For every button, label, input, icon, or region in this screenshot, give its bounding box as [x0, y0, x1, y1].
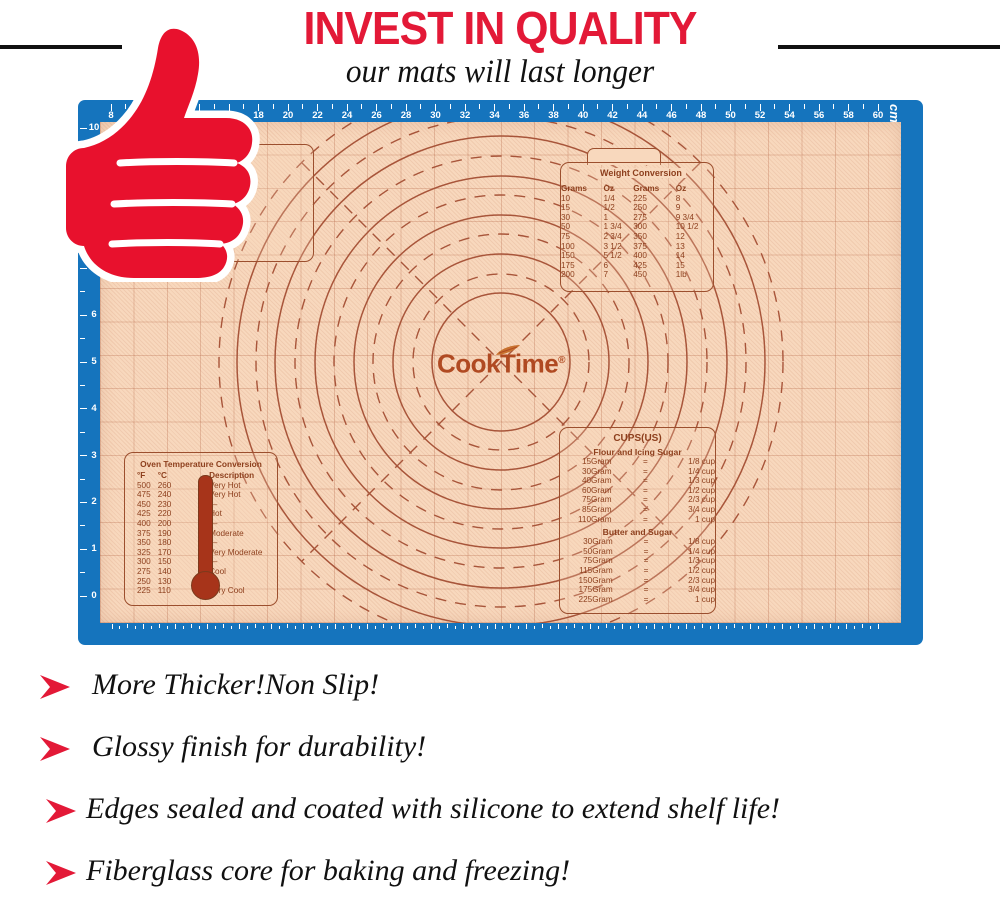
ruler-tick: [782, 624, 783, 629]
table-cell: 250: [125, 577, 158, 587]
table-cell: 85: [560, 505, 591, 515]
ruler-tick: [558, 624, 559, 629]
ruler-tick-label: 40: [572, 111, 594, 121]
ruler-tick: [670, 624, 671, 628]
table-cell: 7: [603, 270, 633, 280]
ruler-tick: [745, 104, 746, 109]
table-cell: Gram: [591, 457, 640, 467]
table-cell: 150: [561, 251, 603, 261]
table-cell: 100: [561, 242, 603, 252]
table-row: 3012759 3/4: [561, 213, 713, 223]
table-cell: 425: [125, 509, 158, 519]
ruler-tick: [471, 626, 472, 629]
ruler-tick: [80, 385, 85, 386]
table-cell: 40: [560, 476, 591, 486]
cups-flour-table: 15Gram=1/8 cup30Gram=1/4 cup40Gram=1/3 c…: [560, 457, 715, 524]
table-cell: 15: [560, 457, 591, 467]
table-cell: 110: [158, 586, 175, 596]
table-cell: Gram: [591, 515, 640, 525]
table-cell: 150: [560, 576, 592, 586]
ruler-tick-label: 48: [690, 111, 712, 121]
ruler-tick: [574, 624, 575, 628]
table-cell: 140: [158, 567, 175, 577]
ruler-tick: [431, 624, 432, 629]
ruler-tick-label: 44: [631, 111, 653, 121]
table-cell: —: [209, 500, 277, 510]
table-row: 150Gram=2/3 cup: [560, 576, 715, 586]
ruler-tick: [854, 626, 855, 629]
ruler-tick: [335, 624, 336, 629]
ruler-tick: [582, 626, 583, 629]
ruler-tick: [415, 624, 416, 628]
table-cell: Gram: [592, 595, 640, 605]
table-cell: =: [640, 505, 651, 515]
table-cell: 9 3/4: [676, 213, 713, 223]
ruler-tick: [361, 104, 362, 109]
ruler-tick-label: 58: [838, 111, 860, 121]
table-cell: 150: [158, 557, 175, 567]
ruler-tick: [718, 624, 719, 629]
ruler-tick: [534, 626, 535, 629]
list-item: Fiberglass core for baking and freezing!: [30, 846, 980, 908]
ruler-tick-label: 24: [336, 111, 358, 121]
ruler-tick: [798, 624, 799, 628]
ruler-tick: [774, 104, 775, 109]
ruler-tick-label: 60: [867, 111, 889, 121]
brand-logo: CookTime®: [389, 345, 613, 379]
table-cell: 9: [676, 203, 713, 213]
ruler-tick: [80, 479, 85, 480]
ruler-tick: [367, 624, 368, 629]
ruler-tick: [758, 626, 759, 629]
ruler-tick-label: 34: [484, 111, 506, 121]
ruler-tick: [223, 624, 224, 628]
ruler-tick: [806, 626, 807, 629]
ruler-tick-label: 28: [395, 111, 417, 121]
table-cell: 3/4 cup: [652, 585, 715, 595]
table-row: 101/42258: [561, 194, 713, 204]
weight-conversion-table: GramsOzGramsOz101/42258151/225093012759 …: [561, 184, 713, 280]
ruler-tick: [598, 626, 599, 629]
ruler-tick: [175, 624, 176, 629]
ruler-tick: [606, 624, 607, 628]
table-cell: =: [640, 486, 651, 496]
table-cell: 1/2 cup: [652, 566, 715, 576]
table-cell: =: [640, 467, 651, 477]
table-cell: 14: [676, 251, 713, 261]
oven-temperature-box: Oven Temperature Conversion °F°CDescript…: [124, 452, 278, 606]
ruler-tick: [127, 624, 128, 628]
ruler-tick: [191, 624, 192, 628]
table-cell: 50: [560, 547, 592, 557]
oven-temperature-title: Oven Temperature Conversion: [125, 459, 277, 469]
table-cell: 350: [633, 232, 675, 242]
table-cell: 325: [125, 548, 158, 558]
ruler-tick-label: 20: [277, 111, 299, 121]
ruler-tick: [726, 626, 727, 629]
ruler-tick: [423, 626, 424, 629]
weight-conversion-box: Weight Conversion GramsOzGramsOz101/4225…: [560, 162, 714, 292]
table-row: 225Gram=1 cup: [560, 595, 715, 605]
ruler-tick-label: 42: [602, 111, 624, 121]
table-row: 110Gram=1 cup: [560, 515, 715, 525]
ruler-tick: [479, 624, 480, 628]
table-cell: =: [640, 547, 651, 557]
table-row: 1003 1/237513: [561, 242, 713, 252]
table-cell: 1/4: [603, 194, 633, 204]
table-cell: 175: [560, 585, 592, 595]
ruler-tick: [790, 626, 791, 629]
product-infographic: INVEST IN QUALITY our mats will last lon…: [0, 0, 1000, 924]
thumbs-up-icon: [62, 22, 277, 282]
table-cell: 225: [125, 586, 158, 596]
table-cell: 175: [561, 261, 603, 271]
ruler-unit-cm-label: cm: [887, 104, 902, 123]
cups-flour-title: Flour and Icing Sugar: [560, 447, 715, 457]
ruler-tick: [822, 626, 823, 629]
ruler-tick: [710, 626, 711, 629]
table-cell: Gram: [592, 576, 640, 586]
table-cell: Gram: [592, 585, 640, 595]
ruler-tick: [614, 626, 615, 629]
table-cell: Cool: [209, 567, 277, 577]
ruler-tick: [479, 104, 480, 109]
ruler-tick: [830, 624, 831, 628]
cups-us-box: CUPS(US) Flour and Icing Sugar 15Gram=1/…: [559, 427, 716, 614]
table-cell: 260: [158, 481, 175, 491]
cups-us-title: CUPS(US): [560, 433, 715, 444]
ruler-tick-label: 30: [425, 111, 447, 121]
table-cell: —: [209, 538, 277, 548]
ruler-tick: [302, 104, 303, 109]
headline: INVEST IN QUALITY: [235, 5, 765, 53]
table-cell: 10 1/2: [676, 222, 713, 232]
ruler-tick: [686, 104, 687, 109]
table-cell: 170: [158, 548, 175, 558]
list-item: More Thicker!Non Slip!: [30, 660, 980, 722]
table-cell: 275: [125, 567, 158, 577]
table-cell: =: [640, 457, 651, 467]
ruler-tick: [656, 104, 657, 109]
feature-text: Fiberglass core for baking and freezing!: [86, 848, 570, 894]
table-cell: 2/3 cup: [651, 495, 715, 505]
ruler-tick: [568, 104, 569, 109]
table-cell: 1 3/4: [603, 222, 633, 232]
table-row: 175Gram=3/4 cup: [560, 585, 715, 595]
table-cell: 225: [560, 595, 592, 605]
table-cell: 75: [560, 495, 591, 505]
ruler-tick: [167, 626, 168, 629]
thermometer-stem-icon: [198, 475, 213, 581]
ruler-tick: [359, 626, 360, 629]
table-cell: 1: [603, 213, 633, 223]
feature-list: More Thicker!Non Slip! Glossy finish for…: [30, 660, 980, 908]
table-cell: —: [209, 557, 277, 567]
ruler-tick: [870, 626, 871, 629]
table-cell: 12: [676, 232, 713, 242]
ruler-tick: [311, 626, 312, 629]
ruler-tick: [159, 624, 160, 628]
table-cell: =: [640, 515, 651, 525]
ruler-tick: [590, 624, 591, 629]
table-row: 30Gram=1/4 cup: [560, 467, 715, 477]
table-cell: 475: [125, 490, 158, 500]
table-row: 75Gram=2/3 cup: [560, 495, 715, 505]
ruler-tick: [80, 338, 85, 339]
table-cell: =: [640, 585, 651, 595]
ruler-tick: [833, 104, 834, 109]
ruler-tick-label: 46: [661, 111, 683, 121]
table-cell: 1 cup: [651, 515, 715, 525]
ruler-tick: [550, 626, 551, 629]
cups-butter-title: Butter and Sugar: [560, 527, 715, 537]
ruler-tick: [734, 624, 735, 628]
table-cell: 190: [158, 529, 175, 539]
ruler-tick: [627, 104, 628, 109]
ruler-tick: [878, 624, 879, 629]
ruler-tick: [814, 624, 815, 629]
table-cell: —: [209, 519, 277, 529]
table-cell: 200: [561, 270, 603, 280]
ruler-tick: [263, 626, 264, 629]
table-cell: 350: [125, 538, 158, 548]
ruler-tick: [447, 624, 448, 628]
ruler-tick: [463, 624, 464, 629]
table-cell: Gram: [592, 566, 640, 576]
column-header: Oz: [603, 184, 633, 194]
ruler-tick: [112, 624, 113, 629]
table-cell: 2 3/4: [603, 232, 633, 242]
column-header: Grams: [633, 184, 675, 194]
table-cell: 30: [560, 467, 591, 477]
table-row: 15Gram=1/8 cup: [560, 457, 715, 467]
table-cell: 425: [633, 261, 675, 271]
ruler-tick-label: 26: [366, 111, 388, 121]
ruler-tick: [646, 626, 647, 629]
table-cell: 220: [158, 509, 175, 519]
ruler-unit-in-label: in: [69, 643, 84, 655]
table-row: 1505 1/240014: [561, 251, 713, 261]
table-cell: =: [640, 566, 651, 576]
table-cell: 15: [676, 261, 713, 271]
ruler-tick: [702, 624, 703, 628]
ruler-tick: [694, 626, 695, 629]
column-header: °C: [158, 471, 175, 481]
ruler-tick: [239, 624, 240, 629]
ruler-tick: [407, 626, 408, 629]
table-cell: Gram: [592, 547, 640, 557]
table-cell: 115: [560, 566, 592, 576]
ruler-tick: [455, 626, 456, 629]
arrow-bullet-icon: [44, 798, 78, 824]
ruler-tick: [183, 626, 184, 629]
table-cell: 450: [125, 500, 158, 510]
ruler-tick-label: 50: [720, 111, 742, 121]
ruler-tick: [450, 104, 451, 109]
ruler-tick: [750, 624, 751, 629]
cups-butter-table: 30Gram=1/8 cup50Gram=1/4 cup75Gram=1/3 c…: [560, 537, 715, 604]
subheadline: our mats will last longer: [229, 55, 771, 91]
ruler-tick: [247, 626, 248, 629]
table-cell: 8: [676, 194, 713, 204]
feature-text: Edges sealed and coated with silicone to…: [86, 786, 780, 832]
table-row: 60Gram=1/2 cup: [560, 486, 715, 496]
ruler-tick: [207, 624, 208, 629]
ruler-tick: [343, 626, 344, 629]
table-cell: 3 1/2: [603, 242, 633, 252]
table-cell: Gram: [591, 467, 640, 477]
table-cell: Gram: [592, 537, 640, 547]
table-cell: 400: [633, 251, 675, 261]
list-item: Edges sealed and coated with silicone to…: [30, 784, 980, 846]
table-cell: 1/2: [603, 203, 633, 213]
thermometer-bulb-icon: [191, 571, 220, 600]
ruler-tick: [375, 626, 376, 629]
ruler-tick: [80, 525, 85, 526]
ruler-tick: [80, 572, 85, 573]
ruler-tick-label: 36: [513, 111, 535, 121]
table-cell: Gram: [592, 556, 640, 566]
table-cell: 75: [561, 232, 603, 242]
table-cell: 15: [561, 203, 603, 213]
table-cell: 1/2 cup: [651, 486, 715, 496]
ruler-tick: [199, 626, 200, 629]
table-cell: 3/4 cup: [651, 505, 715, 515]
ruler-tick: [518, 626, 519, 629]
table-cell: =: [640, 556, 651, 566]
table-cell: Hot: [209, 509, 277, 519]
ruler-tick: [654, 624, 655, 629]
list-item: Glossy finish for durability!: [30, 722, 980, 784]
table-cell: 30: [561, 213, 603, 223]
ruler-tick: [279, 626, 280, 629]
ruler-tick-label: 32: [454, 111, 476, 121]
table-cell: 1/4 cup: [651, 467, 715, 477]
table-row: 85Gram=3/4 cup: [560, 505, 715, 515]
ruler-tick: [686, 624, 687, 629]
feature-text: Glossy finish for durability!: [92, 724, 426, 770]
table-cell: 225: [633, 194, 675, 204]
ruler-tick: [332, 104, 333, 109]
ruler-tick: [846, 624, 847, 629]
table-cell: 1lb: [676, 270, 713, 280]
table-cell: =: [640, 576, 651, 586]
ruler-tick: [766, 624, 767, 628]
table-cell: Gram: [591, 486, 640, 496]
ruler-tick: [151, 626, 152, 629]
ruler-tick: [119, 626, 120, 629]
ruler-tick: [255, 624, 256, 628]
weight-conversion-title: Weight Conversion: [596, 168, 686, 178]
ruler-tick: [303, 624, 304, 629]
table-cell: Gram: [591, 505, 640, 515]
table-row: 75Gram=1/3 cup: [560, 556, 715, 566]
table-cell: 400: [125, 519, 158, 529]
ruler-tick: [319, 624, 320, 628]
table-row: 30Gram=1/8 cup: [560, 537, 715, 547]
table-cell: Gram: [591, 495, 640, 505]
table-cell: 300: [633, 222, 675, 232]
column-header: Description: [209, 471, 277, 481]
ruler-tick: [215, 626, 216, 629]
table-cell: Gram: [591, 476, 640, 486]
table-cell: 300: [125, 557, 158, 567]
table-cell: 2/3 cup: [652, 576, 715, 586]
ruler-tick: [287, 624, 288, 628]
table-cell: 230: [158, 500, 175, 510]
table-row: 40Gram=1/3 cup: [560, 476, 715, 486]
table-cell: 50: [561, 222, 603, 232]
ruler-tick: [509, 104, 510, 109]
table-cell: 110: [560, 515, 591, 525]
table-row: 115Gram=1/2 cup: [560, 566, 715, 576]
table-cell: 1/3 cup: [651, 476, 715, 486]
header-rule-right: [778, 45, 1000, 49]
table-row: 175642515: [561, 261, 713, 271]
ruler-tick-label: 54: [779, 111, 801, 121]
table-row: 20074501lb: [561, 270, 713, 280]
table-row: 501 3/430010 1/2: [561, 222, 713, 232]
ruler-tick: [143, 624, 144, 629]
ruler-tick: [715, 104, 716, 109]
table-cell: 1 cup: [652, 595, 715, 605]
ruler-tick: [495, 624, 496, 629]
ruler-tick: [487, 626, 488, 629]
ruler-tick: [804, 104, 805, 109]
ruler-tick-label: 56: [808, 111, 830, 121]
ruler-tick: [566, 626, 567, 629]
ruler-tick: [351, 624, 352, 628]
arrow-bullet-icon: [44, 860, 78, 886]
ruler-tick: [135, 626, 136, 629]
ruler-tick: [622, 624, 623, 629]
wheat-leaf-icon: [495, 344, 521, 357]
table-cell: Very Moderate: [209, 548, 277, 558]
table-cell: 1/4 cup: [652, 547, 715, 557]
ruler-tick: [678, 626, 679, 629]
table-cell: 5 1/2: [603, 251, 633, 261]
table-cell: 10: [561, 194, 603, 204]
ruler-tick: [597, 104, 598, 109]
ruler-tick-label: 52: [749, 111, 771, 121]
ruler-tick: [774, 626, 775, 629]
ruler-tick: [399, 624, 400, 629]
ruler-tick: [662, 626, 663, 629]
ruler-tick: [383, 624, 384, 628]
table-cell: 250: [633, 203, 675, 213]
ruler-tick: [295, 626, 296, 629]
ruler-tick: [510, 624, 511, 628]
table-cell: 30: [560, 537, 592, 547]
table-cell: Very Hot: [209, 481, 277, 491]
table-cell: 275: [633, 213, 675, 223]
column-header: Oz: [676, 184, 713, 194]
feature-text: More Thicker!Non Slip!: [92, 662, 379, 708]
table-cell: 13: [676, 242, 713, 252]
table-cell: 1/8 cup: [652, 537, 715, 547]
table-cell: 130: [158, 577, 175, 587]
ruler-tick: [630, 626, 631, 629]
ruler-tick: [271, 624, 272, 629]
table-cell: =: [640, 476, 651, 486]
ruler-tick: [863, 104, 864, 109]
table-cell: 75: [560, 556, 592, 566]
ruler-tick: [862, 624, 863, 628]
table-cell: =: [640, 537, 651, 547]
ruler-tick: [638, 624, 639, 628]
arrow-bullet-icon: [38, 674, 72, 700]
table-cell: =: [640, 595, 651, 605]
